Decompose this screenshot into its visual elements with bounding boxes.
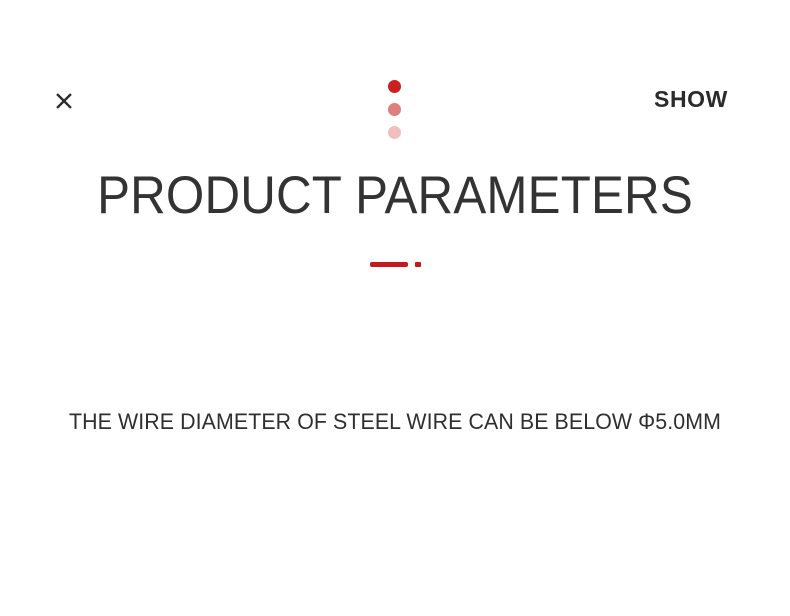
show-button[interactable]: SHOW (654, 86, 728, 113)
divider-dash (370, 262, 408, 267)
product-parameters-page: SHOW PRODUCT PARAMETERS THE WIRE DIAMETE… (0, 0, 790, 616)
top-bar: SHOW (0, 0, 790, 160)
close-x-icon (52, 89, 76, 113)
indicator-dot-1[interactable] (388, 80, 401, 93)
dash-dot-divider (0, 262, 790, 267)
indicator-dot-2[interactable] (388, 103, 401, 116)
description-text: THE WIRE DIAMETER OF STEEL WIRE CAN BE B… (12, 406, 778, 438)
title-block: PRODUCT PARAMETERS (0, 165, 790, 227)
description-block: THE WIRE DIAMETER OF STEEL WIRE CAN BE B… (0, 406, 790, 438)
close-button[interactable] (48, 85, 80, 117)
page-title: PRODUCT PARAMETERS (28, 165, 763, 227)
divider-dot (415, 262, 421, 267)
vertical-dots-indicator (386, 80, 402, 139)
indicator-dot-3[interactable] (388, 126, 401, 139)
